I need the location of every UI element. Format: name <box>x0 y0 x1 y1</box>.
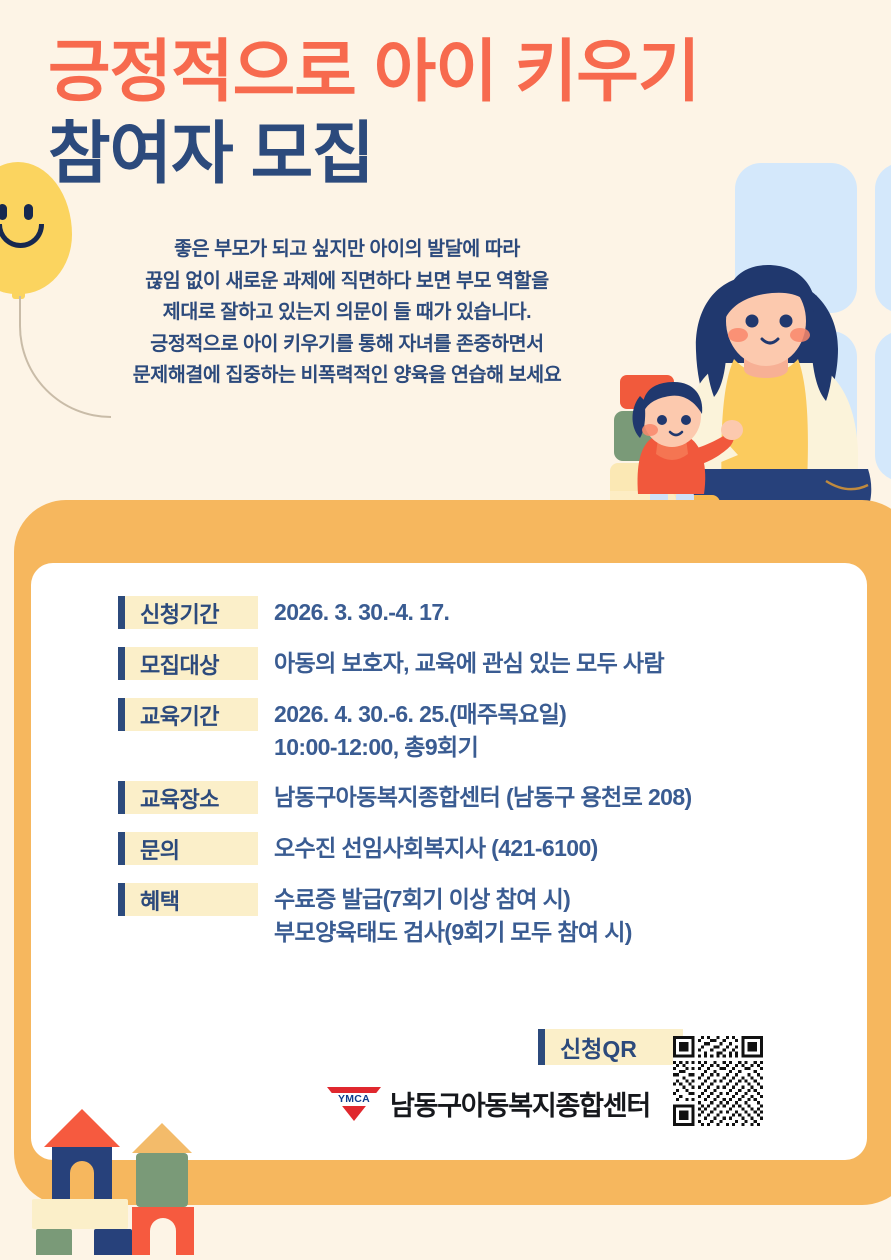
badge-bar-icon <box>118 883 125 916</box>
info-value-line1: 수료증 발급(7회기 이상 참여 시) <box>274 886 570 912</box>
info-row-location: 교육장소 남동구아동복지종합센터 (남동구 용천로 208) <box>118 781 838 814</box>
info-label-badge: 교육기간 <box>118 698 258 731</box>
info-value-line1: 2026. 3. 30.-4. 17. <box>274 599 449 625</box>
info-label-badge: 문의 <box>118 832 258 865</box>
toy-blocks-illustration <box>14 1085 244 1255</box>
info-value: 2026. 4. 30.-6. 25.(매주목요일) 10:00-12:00, … <box>258 698 566 763</box>
description-line: 끊임 없이 새로운 과제에 직면하다 보면 부모 역할을 <box>62 266 632 298</box>
qr-code-icon[interactable] <box>673 1033 763 1129</box>
info-row-contact: 문의 오수진 선임사회복지사 (421-6100) <box>118 832 838 865</box>
info-value-line1: 남동구아동복지종합센터 (남동구 용천로 208) <box>274 784 692 810</box>
organization-logo: YMCA 남동구아동복지종합센터 <box>327 1084 650 1123</box>
badge-bar-icon <box>118 698 125 731</box>
info-row-application-period: 신청기간 2026. 3. 30.-4. 17. <box>118 596 838 629</box>
qr-badge-label: 신청QR <box>538 1030 637 1064</box>
info-value-line2: 10:00-12:00, 총9회기 <box>274 731 566 764</box>
description-line: 긍정적으로 아이 키우기를 통해 자녀를 존중하면서 <box>62 329 632 361</box>
info-label: 교육장소 <box>118 782 219 814</box>
info-value-line2: 부모양육태도 검사(9회기 모두 참여 시) <box>274 916 632 949</box>
badge-bar-icon <box>118 647 125 680</box>
qr-badge: 신청QR <box>538 1029 683 1065</box>
info-label: 모집대상 <box>118 648 219 680</box>
info-row-education-period: 교육기간 2026. 4. 30.-6. 25.(매주목요일) 10:00-12… <box>118 698 838 763</box>
info-value-line1: 아동의 보호자, 교육에 관심 있는 모두 사람 <box>274 650 664 676</box>
badge-bar-icon <box>118 781 125 814</box>
info-rows: 신청기간 2026. 3. 30.-4. 17. 모집대상 아동의 보호자, 교… <box>118 596 838 967</box>
info-value-line1: 2026. 4. 30.-6. 25.(매주목요일) <box>274 701 566 727</box>
info-label: 혜택 <box>118 884 179 916</box>
page-title-line1: 긍정적으로 아이 키우기 <box>48 36 699 109</box>
info-label-badge: 신청기간 <box>118 596 258 629</box>
ymca-logo-icon: YMCA <box>327 1087 381 1121</box>
description-line: 좋은 부모가 되고 싶지만 아이의 발달에 따라 <box>62 234 632 266</box>
info-value: 수료증 발급(7회기 이상 참여 시) 부모양육태도 검사(9회기 모두 참여 … <box>258 883 632 948</box>
page-title-line2: 참여자 모집 <box>48 118 374 191</box>
info-row-target-audience: 모집대상 아동의 보호자, 교육에 관심 있는 모두 사람 <box>118 647 838 680</box>
info-row-benefits: 혜택 수료증 발급(7회기 이상 참여 시) 부모양육태도 검사(9회기 모두 … <box>118 883 838 948</box>
info-label-badge: 교육장소 <box>118 781 258 814</box>
description-block: 좋은 부모가 되고 싶지만 아이의 발달에 따라 끊임 없이 새로운 과제에 직… <box>62 234 632 392</box>
info-value: 남동구아동복지종합센터 (남동구 용천로 208) <box>258 781 692 814</box>
info-label-badge: 혜택 <box>118 883 258 916</box>
info-label: 교육기간 <box>118 699 219 731</box>
info-label: 문의 <box>118 833 179 865</box>
info-value: 아동의 보호자, 교육에 관심 있는 모두 사람 <box>258 647 664 680</box>
poster-canvas: 긍정적으로 아이 키우기 참여자 모집 좋은 부모가 되고 싶지만 아이의 발달… <box>0 0 891 1260</box>
info-label-badge: 모집대상 <box>118 647 258 680</box>
ymca-logo-text: YMCA <box>329 1093 379 1106</box>
info-value: 2026. 3. 30.-4. 17. <box>258 596 449 629</box>
badge-bar-icon <box>118 832 125 865</box>
info-value: 오수진 선임사회복지사 (421-6100) <box>258 832 598 865</box>
info-value-line1: 오수진 선임사회복지사 (421-6100) <box>274 835 598 861</box>
info-label: 신청기간 <box>118 597 219 629</box>
badge-bar-icon <box>538 1029 545 1065</box>
description-line: 제대로 잘하고 있는지 의문이 들 때가 있습니다. <box>62 297 632 329</box>
organization-name: 남동구아동복지종합센터 <box>390 1084 650 1123</box>
description-line: 문제해결에 집중하는 비폭력적인 양육을 연습해 보세요 <box>62 360 632 392</box>
badge-bar-icon <box>118 596 125 629</box>
